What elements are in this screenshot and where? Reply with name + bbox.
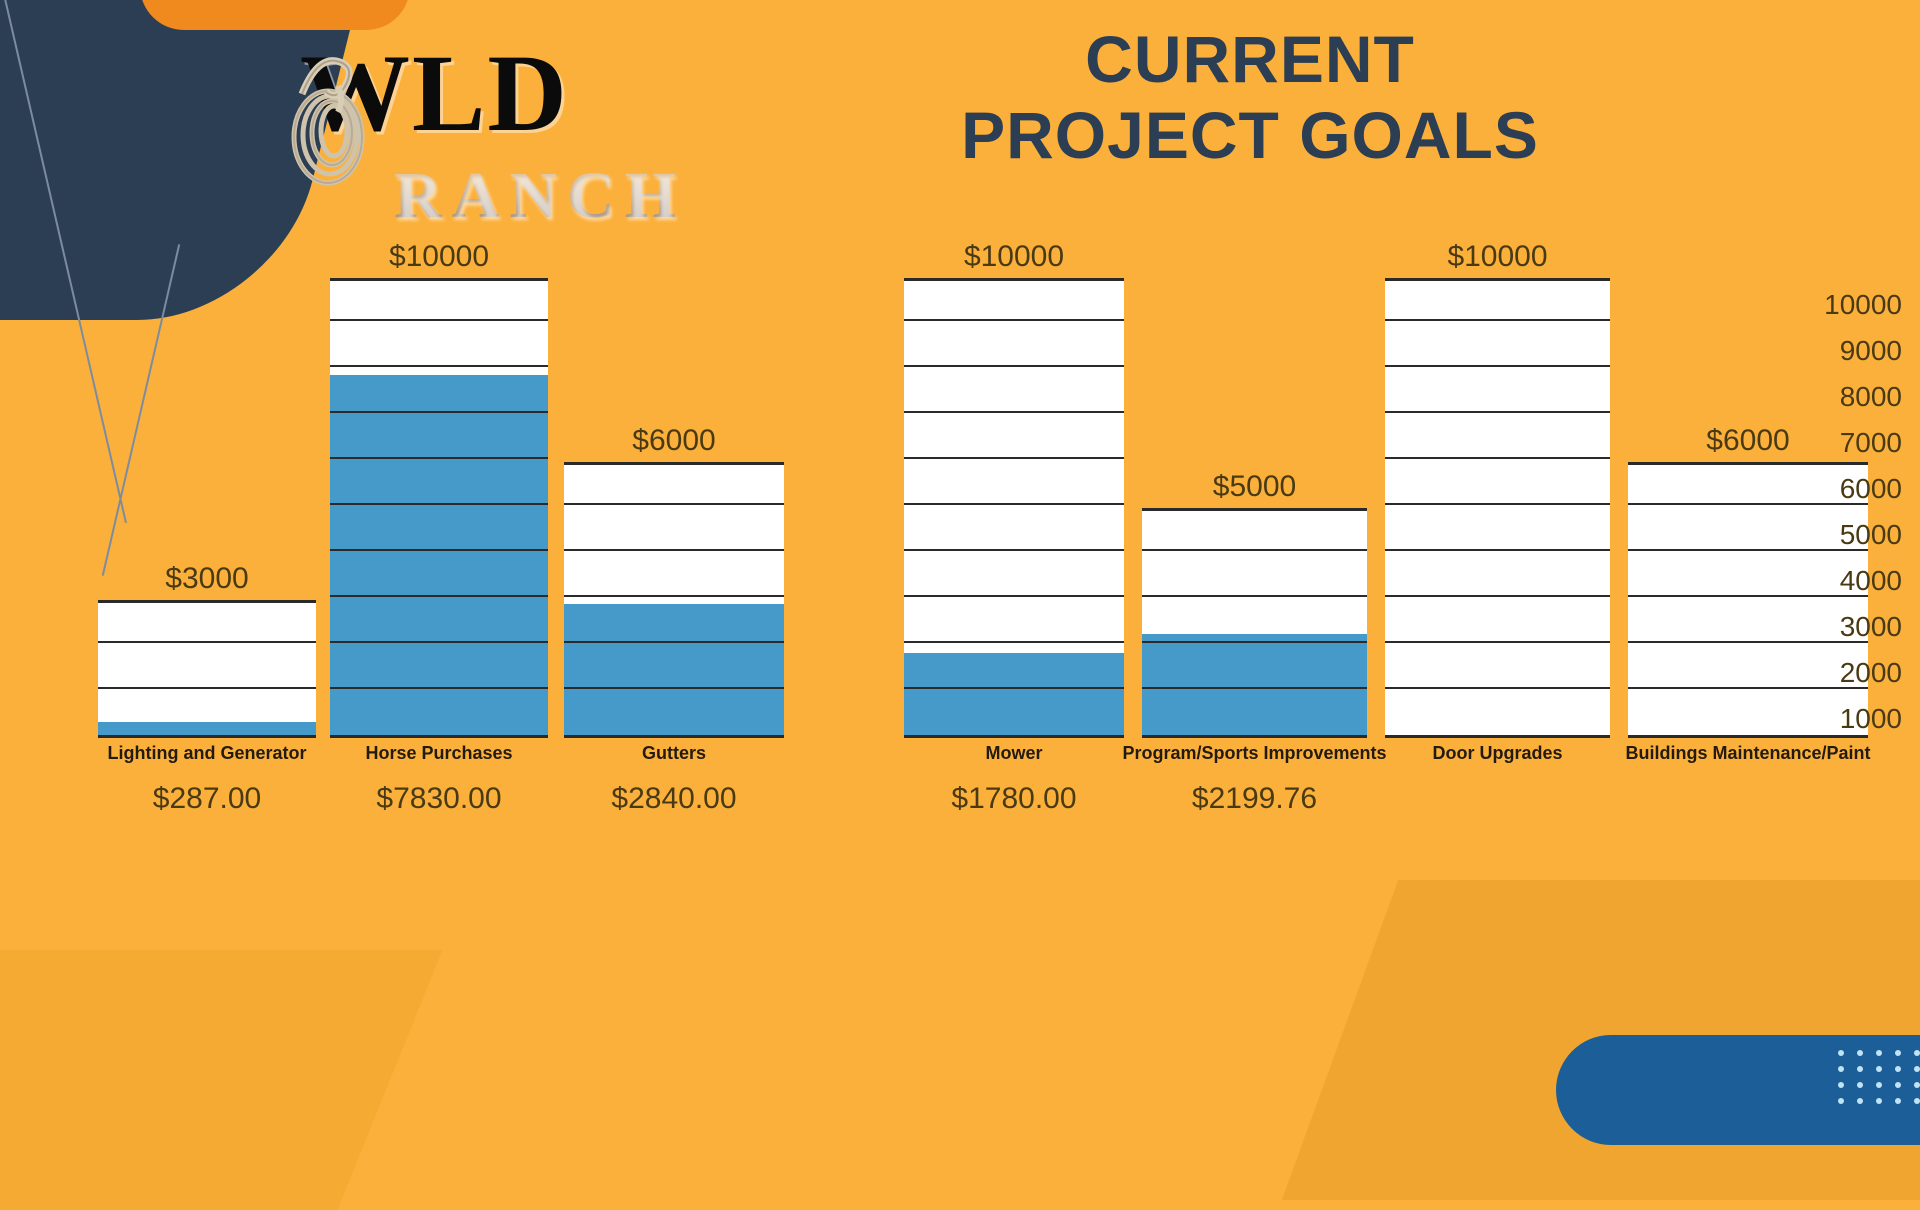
- bar-track: [904, 278, 1124, 738]
- bar-raised-amount: $2199.76: [1192, 782, 1317, 816]
- grid-line: [1142, 641, 1367, 643]
- grid-line: [1385, 457, 1610, 459]
- bar-category-label: Mower: [985, 743, 1042, 764]
- bar-goal-label: $10000: [1447, 240, 1547, 274]
- grid-line: [330, 411, 548, 413]
- grid-line: [1385, 595, 1610, 597]
- grid-line: [1385, 319, 1610, 321]
- bar-category-label: Lighting and Generator: [107, 743, 306, 764]
- bar-track: [98, 600, 316, 738]
- grid-line: [1385, 641, 1610, 643]
- grid-line: [904, 549, 1124, 551]
- chart-plot-area: $3000Lighting and Generator$287.00$10000…: [70, 290, 1790, 870]
- bar-progress-fill: [564, 604, 784, 735]
- bar-category-label: Horse Purchases: [365, 743, 512, 764]
- grid-line: [904, 595, 1124, 597]
- brand-logo: WLD RANCH: [258, 20, 738, 230]
- grid-line: [1142, 687, 1367, 689]
- bar-group: $6000Gutters$2840.00: [564, 424, 784, 816]
- bar-goal-label: $10000: [389, 240, 489, 274]
- y-axis-tick: 3000: [1840, 611, 1902, 643]
- page-title: CURRENT PROJECT GOALS: [810, 22, 1690, 174]
- bar-category-label: Door Upgrades: [1432, 743, 1562, 764]
- page-title-line-2: PROJECT GOALS: [810, 98, 1690, 174]
- grid-line: [330, 457, 548, 459]
- y-axis-tick: 7000: [1840, 427, 1902, 459]
- project-goals-chart: $3000Lighting and Generator$287.00$10000…: [0, 250, 1920, 870]
- grid-line: [564, 549, 784, 551]
- grid-line: [904, 641, 1124, 643]
- bar-goal-label: $10000: [964, 240, 1064, 274]
- grid-line: [330, 365, 548, 367]
- bar-progress-fill: [904, 653, 1124, 735]
- bar-track: [330, 278, 548, 738]
- bar-group: $10000Door Upgrades: [1385, 240, 1610, 764]
- bar-track: [1385, 278, 1610, 738]
- grid-line: [904, 319, 1124, 321]
- bar-raised-amount: $2840.00: [611, 782, 736, 816]
- logo-subtitle: RANCH: [394, 158, 686, 234]
- bar-progress-fill: [1142, 634, 1367, 735]
- bar-progress-fill: [98, 722, 316, 735]
- bar-goal-label: $6000: [1706, 424, 1789, 458]
- grid-line: [330, 641, 548, 643]
- y-axis-tick: 8000: [1840, 381, 1902, 413]
- lasso-rope-icon: [278, 42, 378, 192]
- y-axis-tick: 1000: [1840, 703, 1902, 735]
- bar-progress-fill: [330, 375, 548, 735]
- grid-line: [904, 503, 1124, 505]
- y-axis: 1000090008000700060005000400030002000100…: [1800, 250, 1920, 870]
- grid-line: [1385, 549, 1610, 551]
- grid-line: [1385, 365, 1610, 367]
- grid-line: [904, 457, 1124, 459]
- bar-goal-label: $3000: [165, 562, 248, 596]
- grid-line: [564, 595, 784, 597]
- grid-line: [330, 503, 548, 505]
- bottom-left-shape: [0, 950, 443, 1210]
- grid-line: [1385, 503, 1610, 505]
- bar-raised-amount: $1780.00: [951, 782, 1076, 816]
- y-axis-tick: 6000: [1840, 473, 1902, 505]
- bar-category-label: Gutters: [642, 743, 706, 764]
- y-axis-tick: 5000: [1840, 519, 1902, 551]
- grid-line: [564, 687, 784, 689]
- y-axis-tick: 10000: [1824, 289, 1902, 321]
- y-axis-tick: 2000: [1840, 657, 1902, 689]
- grid-line: [904, 411, 1124, 413]
- bar-category-label: Program/Sports Improvements: [1122, 743, 1386, 764]
- bar-group: $10000Horse Purchases$7830.00: [330, 240, 548, 816]
- bar-goal-label: $5000: [1213, 470, 1296, 504]
- y-axis-tick: 9000: [1840, 335, 1902, 367]
- grid-line: [1385, 411, 1610, 413]
- grid-line: [98, 641, 316, 643]
- grid-line: [1385, 687, 1610, 689]
- bar-track: [564, 462, 784, 738]
- grid-line: [98, 687, 316, 689]
- grid-line: [904, 365, 1124, 367]
- grid-line: [330, 595, 548, 597]
- dot-pattern: [1838, 1050, 1920, 1110]
- grid-line: [564, 503, 784, 505]
- bar-group: $10000Mower$1780.00: [904, 240, 1124, 816]
- grid-line: [904, 687, 1124, 689]
- bar-goal-label: $6000: [632, 424, 715, 458]
- bar-group: $3000Lighting and Generator$287.00: [98, 562, 316, 816]
- grid-line: [330, 319, 548, 321]
- y-axis-tick: 4000: [1840, 565, 1902, 597]
- grid-line: [1142, 595, 1367, 597]
- grid-line: [330, 687, 548, 689]
- grid-line: [564, 641, 784, 643]
- page-title-line-1: CURRENT: [810, 22, 1690, 98]
- bar-group: $5000Program/Sports Improvements$2199.76: [1142, 470, 1367, 816]
- bar-track: [1142, 508, 1367, 738]
- grid-line: [1142, 549, 1367, 551]
- grid-line: [330, 549, 548, 551]
- bar-raised-amount: $7830.00: [376, 782, 501, 816]
- bar-raised-amount: $287.00: [153, 782, 261, 816]
